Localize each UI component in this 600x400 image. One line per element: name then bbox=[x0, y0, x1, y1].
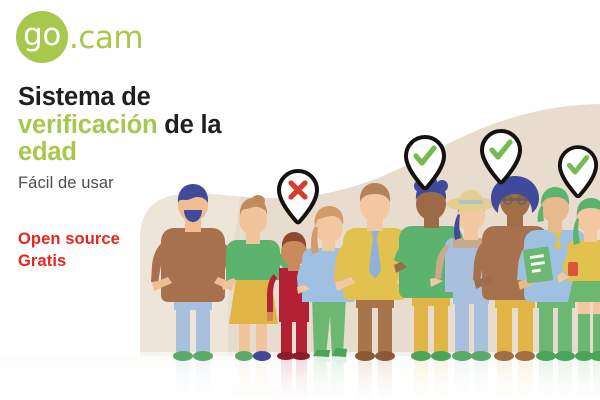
headline-verification: verificación bbox=[18, 111, 157, 139]
promo-banner: go .cam Sistema de verificación de la ed… bbox=[0, 0, 600, 400]
pin-approve-2[interactable] bbox=[478, 128, 524, 186]
promo-gratis: Gratis bbox=[18, 250, 120, 272]
headline-de-la: de la bbox=[157, 111, 221, 139]
logo-wordmark: .cam bbox=[69, 23, 143, 54]
headline-line-2: verificación de la bbox=[18, 112, 318, 140]
headline-block: Sistema de verificación de la edad Fácil… bbox=[18, 84, 318, 193]
pin-approve-3[interactable] bbox=[556, 144, 600, 200]
promo-open-source: Open source bbox=[18, 228, 120, 250]
promo-block: Open source Gratis bbox=[18, 228, 120, 272]
page-title: Sistema de verificación de la edad bbox=[18, 84, 318, 167]
subtitle: Fácil de usar bbox=[18, 173, 318, 193]
pin-approve-1[interactable] bbox=[402, 134, 448, 192]
headline-line-1: Sistema de bbox=[18, 84, 318, 112]
headline-line-3: edad bbox=[18, 139, 318, 167]
logo[interactable]: go .cam bbox=[16, 10, 143, 64]
logo-mark: go bbox=[16, 11, 68, 63]
logo-mark-text: go bbox=[23, 20, 61, 51]
headline-edad: edad bbox=[18, 138, 77, 166]
